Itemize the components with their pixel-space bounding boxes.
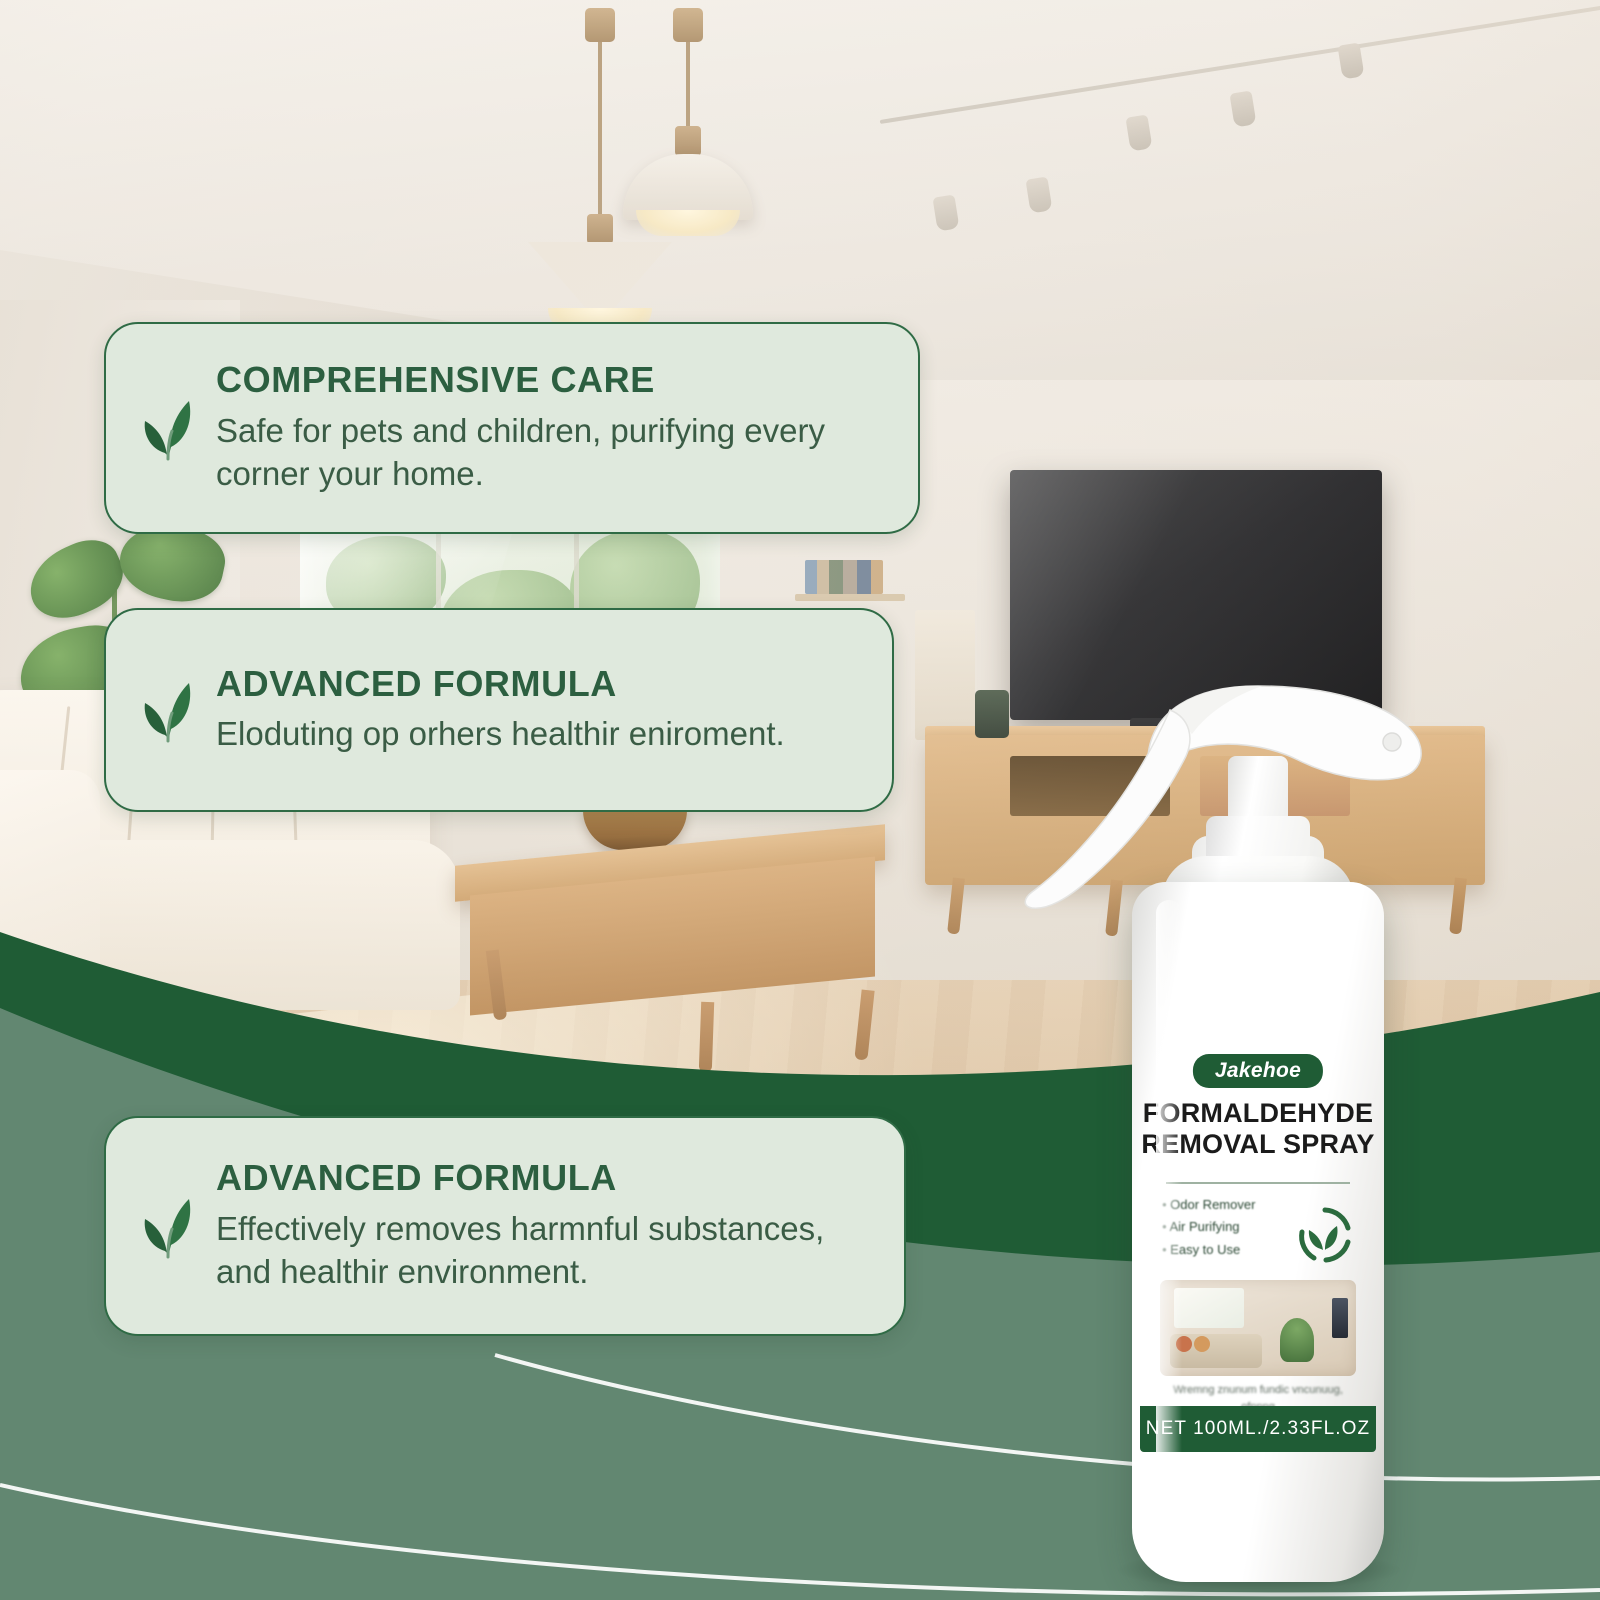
recycle-leaf-icon xyxy=(1294,1204,1356,1266)
leaf-icon xyxy=(132,386,206,470)
feature-card-advanced-formula-bottom[interactable]: ADVANCED FORMULA Effectively removes har… xyxy=(104,1116,906,1336)
inset-cushion xyxy=(1194,1336,1210,1352)
product-spray-bottle[interactable]: Jakehoe FORMALDEHYDE REMOVAL SPRAY Odor … xyxy=(1010,660,1430,1590)
feature-bullet: Easy to Use xyxy=(1162,1239,1287,1261)
card-text-block: ADVANCED FORMULA Eloduting op orhers hea… xyxy=(216,664,785,756)
brand-badge: Jakehoe xyxy=(1193,1054,1323,1088)
product-feature-bullets: Odor Remover Air Purifying Easy to Use xyxy=(1162,1194,1287,1261)
inset-tv xyxy=(1332,1298,1348,1338)
card-title: ADVANCED FORMULA xyxy=(216,664,785,704)
product-title-line-2: REMOVAL SPRAY xyxy=(1140,1129,1376,1160)
net-contents-text: NET 100ML./2.33FL.OZ xyxy=(1146,1418,1370,1440)
net-contents-band: NET 100ML./2.33FL.OZ xyxy=(1140,1406,1376,1452)
label-divider xyxy=(1166,1182,1350,1184)
feature-bullet: Air Purifying xyxy=(1162,1216,1287,1238)
inset-window xyxy=(1174,1288,1244,1328)
product-title-line-1: FORMALDEHYDE xyxy=(1140,1098,1376,1129)
feature-card-advanced-formula-top[interactable]: ADVANCED FORMULA Eloduting op orhers hea… xyxy=(104,608,894,812)
feature-card-comprehensive-care[interactable]: COMPREHENSIVE CARE Safe for pets and chi… xyxy=(104,322,920,534)
label-inset-photo xyxy=(1160,1280,1356,1376)
inset-plant xyxy=(1280,1318,1314,1362)
leaf-icon xyxy=(132,1184,206,1268)
card-text-block: COMPREHENSIVE CARE Safe for pets and chi… xyxy=(216,360,884,495)
card-text-block: ADVANCED FORMULA Effectively removes har… xyxy=(216,1158,870,1293)
product-label: Jakehoe FORMALDEHYDE REMOVAL SPRAY Odor … xyxy=(1140,1032,1376,1452)
product-graphic-canvas: COMPREHENSIVE CARE Safe for pets and chi… xyxy=(0,0,1600,1600)
card-title: COMPREHENSIVE CARE xyxy=(216,360,884,400)
product-title: FORMALDEHYDE REMOVAL SPRAY xyxy=(1140,1098,1376,1160)
leaf-icon xyxy=(132,668,206,752)
card-body: Eloduting op orhers healthir eniroment. xyxy=(216,712,785,756)
card-body: Safe for pets and children, purifying ev… xyxy=(216,409,884,496)
inset-cushion xyxy=(1176,1336,1192,1352)
feature-bullet: Odor Remover xyxy=(1162,1194,1287,1216)
card-title: ADVANCED FORMULA xyxy=(216,1158,870,1198)
card-body: Effectively removes harmnful substances,… xyxy=(216,1207,870,1294)
